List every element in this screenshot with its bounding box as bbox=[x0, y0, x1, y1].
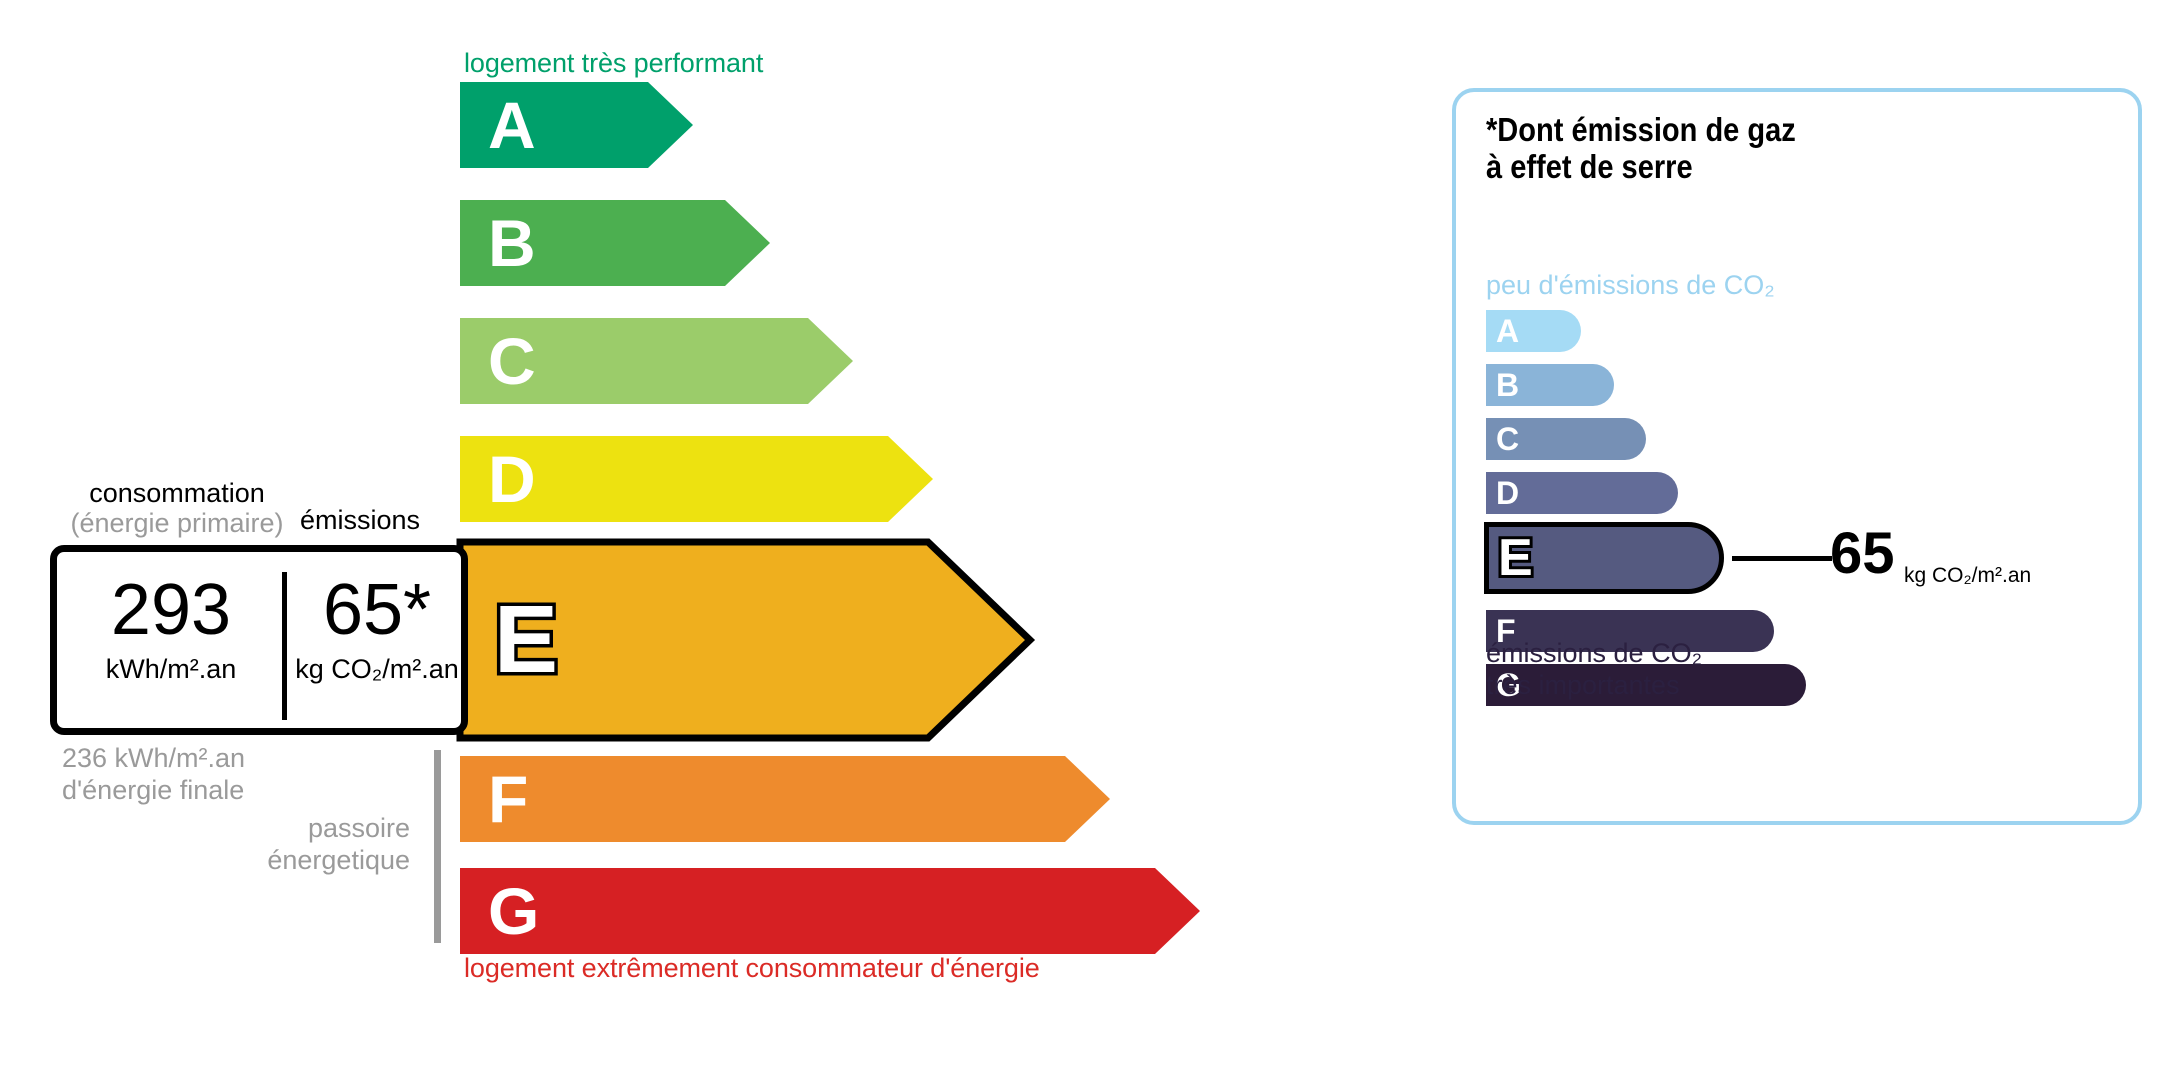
final-energy-note: 236 kWh/m².an d'énergie finale bbox=[62, 742, 245, 807]
emissions-unit: kg CO₂/m².an bbox=[293, 654, 461, 685]
arrow-letter-c: C bbox=[488, 328, 536, 394]
co2-class-bar-c: C bbox=[1486, 418, 1646, 460]
final-energy-line1: 236 kWh/m².an bbox=[62, 742, 245, 774]
final-energy-line2: d'énergie finale bbox=[62, 774, 245, 806]
arrow-shape-e: E bbox=[460, 542, 1030, 738]
arrow-letter-e: E bbox=[494, 592, 558, 688]
co2-bottom-caption: émissions de CO₂ très importantes bbox=[1486, 638, 1702, 702]
co2-panel-title: *Dont émission de gaz à effet de serre bbox=[1486, 112, 1796, 186]
consumption-sublabel: (énergie primaire) bbox=[62, 508, 292, 538]
energy-class-arrow-d: D bbox=[460, 436, 933, 522]
arrow-shape-a: A bbox=[460, 82, 693, 168]
consumption-unit: kWh/m².an bbox=[65, 654, 277, 685]
co2-bar-letter-d: D bbox=[1496, 477, 1519, 509]
co2-class-bar-b: B bbox=[1486, 364, 1614, 406]
arrow-letter-f: F bbox=[488, 766, 528, 832]
arrow-letter-a: A bbox=[488, 92, 536, 158]
passoire-line1: passoire bbox=[210, 812, 410, 844]
co2-emissions-panel: *Dont émission de gaz à effet de serre p… bbox=[1452, 88, 2142, 825]
co2-bar-letter-a: A bbox=[1496, 315, 1519, 347]
passoire-line2: énergetique bbox=[210, 844, 410, 876]
passoire-bracket-bar bbox=[434, 750, 441, 943]
energy-top-caption: logement très performant bbox=[464, 48, 763, 79]
arrow-shape-d: D bbox=[460, 436, 933, 522]
consumption-label-group: consommation (énergie primaire) bbox=[62, 478, 292, 538]
energy-class-arrow-c: C bbox=[460, 318, 853, 404]
arrow-letter-b: B bbox=[488, 210, 536, 276]
consumption-value-box: 293 kWh/m².an 65* kg CO₂/m².an bbox=[50, 545, 468, 735]
co2-callout-value: 65 bbox=[1830, 525, 1895, 583]
consumption-value: 293 bbox=[65, 574, 277, 646]
co2-bar-letter-b: B bbox=[1496, 369, 1519, 401]
co2-bar-letter-e: E bbox=[1498, 532, 1533, 584]
arrow-letter-g: G bbox=[488, 878, 539, 944]
energy-class-arrow-e: E bbox=[460, 542, 1030, 738]
arrow-shape-c: C bbox=[460, 318, 853, 404]
co2-callout-unit: kg CO₂/m².an bbox=[1904, 564, 2031, 588]
energy-class-arrow-a: A bbox=[460, 82, 693, 168]
consumption-cell: 293 kWh/m².an bbox=[65, 574, 277, 685]
dpe-energy-label: logement très performant ABCDEFG logemen… bbox=[0, 0, 2169, 1079]
emissions-cell: 65* kg CO₂/m².an bbox=[293, 574, 461, 685]
consumption-label: consommation bbox=[89, 478, 265, 508]
energy-performance-scale: logement très performant ABCDEFG logemen… bbox=[0, 0, 1400, 1079]
energy-class-arrow-b: B bbox=[460, 200, 770, 286]
co2-class-bar-a: A bbox=[1486, 310, 1581, 352]
emissions-value: 65* bbox=[293, 574, 461, 646]
passoire-label: passoire énergetique bbox=[210, 812, 410, 877]
arrow-shape-b: B bbox=[460, 200, 770, 286]
value-box-divider bbox=[282, 572, 287, 720]
emissions-label: émissions bbox=[300, 505, 420, 536]
energy-class-arrow-f: F bbox=[460, 756, 1110, 842]
arrow-shape-g: G bbox=[460, 868, 1200, 954]
arrow-shape-f: F bbox=[460, 756, 1110, 842]
co2-class-bar-e: E bbox=[1484, 522, 1724, 594]
arrow-letter-d: D bbox=[488, 446, 536, 512]
co2-callout-leader-line bbox=[1732, 556, 1832, 561]
co2-top-caption: peu d'émissions de CO₂ bbox=[1486, 270, 1775, 301]
energy-bottom-caption: logement extrêmement consommateur d'éner… bbox=[464, 953, 1040, 984]
co2-class-bar-d: D bbox=[1486, 472, 1678, 514]
co2-bar-letter-c: C bbox=[1496, 423, 1519, 455]
energy-class-arrow-g: G bbox=[460, 868, 1200, 954]
